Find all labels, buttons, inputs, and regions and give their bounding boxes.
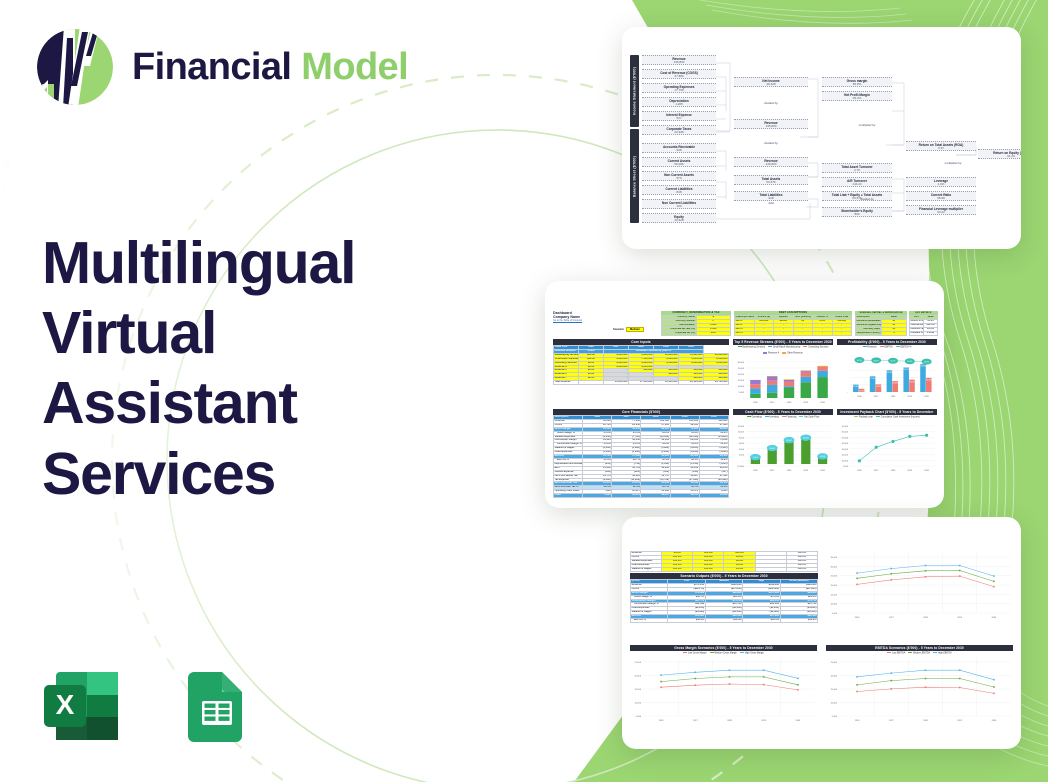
table-row: Payback Period (Years)1.0012: [910, 331, 938, 335]
wc-block-header: WORKING CAPITAL & DEPRECIATION: [855, 311, 907, 315]
dupont-node: Current Liabilities848: [642, 185, 716, 195]
legend-entry: Payback year: [854, 416, 873, 419]
bar-segment: [817, 366, 827, 367]
y-axis-tick: 25,000: [635, 662, 642, 664]
bar-segment: [817, 371, 827, 377]
series-marker: [925, 669, 927, 671]
table-cell: Return on Equity (ROE): [910, 319, 924, 323]
y-axis-tick: 20,000: [635, 675, 642, 677]
wc-assumptions-table: AssumptionValueAccounts Receivable Days1…: [855, 315, 907, 336]
bar-value-label: 120,100: [903, 369, 909, 371]
y-axis-tick: 10,000: [635, 702, 642, 704]
legend-label: Low Gross Margin: [688, 652, 707, 654]
bar-value-label: 136,800: [920, 365, 926, 367]
title-line-1: Multilingual: [42, 228, 472, 298]
dupont-node: Current Ratio58.98: [906, 191, 976, 201]
bar-value-label: 69,480: [926, 379, 931, 381]
series-marker: [891, 672, 893, 674]
legend-swatch: [710, 652, 714, 654]
bar: [784, 441, 793, 464]
legend-entry: Investing: [765, 416, 779, 419]
legend-entry: Low EBITDA: [887, 652, 905, 655]
y-axis-tick: 10,000: [738, 386, 745, 388]
dupont-node: Leverage1.9%: [906, 177, 976, 187]
chart-svg: 5,00010,00015,00020,00025,00020262027202…: [630, 656, 817, 722]
table-cell: Internal Rate of Return (IRR), %: [910, 323, 924, 327]
x-axis-tick: 2026: [659, 720, 664, 722]
series-marker: [856, 676, 858, 678]
table-cell: Corporate tax (%): [662, 331, 697, 335]
series-marker: [959, 669, 961, 671]
x-axis-tick: 2027: [770, 402, 775, 404]
dupont-node: Equity49,628: [642, 213, 716, 223]
operator-label: Add: [734, 201, 808, 205]
chart-svg: 1,00010,00020,00030,00040,00050,00060,00…: [837, 420, 937, 472]
chart-svg: -5,00010,00015,00020,00025,00030,0002026…: [733, 356, 833, 404]
bar-segment: [801, 382, 811, 398]
legend-swatch: [908, 652, 912, 654]
operator-label: divided by: [734, 141, 808, 145]
table-cell: Item 4: [735, 331, 755, 335]
series-marker: [993, 586, 995, 588]
scenario-label: Scenario: [613, 328, 624, 331]
x-axis-tick: 2027: [889, 720, 894, 722]
data-label: 39,947: [786, 439, 792, 441]
table-row: Item 4-----: [735, 331, 852, 335]
legend-entry: Revenue: [863, 346, 877, 349]
bar-segment: [750, 384, 760, 388]
bar-segment: [750, 380, 760, 384]
table-row: EBITDA %$42.2%$50.8%$59.6%$50.8%: [631, 619, 818, 623]
chart-svg: 5,00010,00015,00020,00025,00020262027202…: [826, 656, 1013, 722]
x-axis-tick: 2027: [693, 720, 698, 722]
y-axis-tick: 40,000: [842, 443, 849, 445]
table-cell: 95.0%: [724, 567, 755, 571]
title-line-3: Assistant: [42, 368, 472, 438]
node-value: 47,880: [642, 75, 716, 79]
supported-apps: X: [40, 660, 258, 752]
node-value: 800: [822, 213, 892, 217]
legend-label: High EBITDA: [938, 652, 952, 654]
table-cell: -: [774, 331, 794, 335]
series-marker: [891, 679, 893, 681]
x-axis-tick: 2030: [820, 402, 825, 404]
legend-swatch: [933, 652, 937, 654]
chart-legend: Bookkeeping ServicesSmall Batch Manufact…: [733, 345, 833, 356]
operator-label: multiplied by: [830, 123, 904, 127]
svg-text:X: X: [56, 689, 75, 720]
data-label: 50.1%: [890, 360, 895, 362]
core-financials-block: Core Financials ($'000) Description20262…: [553, 409, 729, 498]
table-cell: Operating Cash Flows: [554, 490, 583, 494]
x-axis-tick: 2028: [923, 617, 928, 619]
y-axis-tick: -: [743, 460, 744, 462]
legend-entry: Revenue 4: [763, 352, 779, 355]
legend-entry: Bookkeeping Services: [738, 346, 766, 349]
screenshot-card-scenario-analysis[interactable]: Revenue80.0%100.0%120.0%100.0%COGS105.0%…: [622, 517, 1021, 749]
x-axis-tick: 2028: [787, 470, 792, 472]
cash-flow-chart: Cash Flow ($'000) - 5 Years to December …: [733, 409, 833, 472]
series-marker: [925, 686, 927, 688]
legend-entry: EBITDA: [880, 346, 893, 349]
y-axis-tick: 10,000: [842, 460, 849, 462]
chart-title: Cash Flow ($'000) - 5 Years to December …: [733, 409, 833, 415]
key-metrics-block: KEY METRICS NPVValueReturn on Equity (RO…: [909, 311, 938, 336]
chart-plot: (2,000)-2,0004,0006,0008,00010,00012,000…: [733, 420, 833, 472]
scenario-outputs-table: ($'000)LowMediumHighActive (Medium)Reven…: [630, 579, 818, 623]
top-5-revenue-streams-chart: Top 5 Revenue Streams ($'000) - 5 Years …: [733, 339, 833, 404]
scenario-selector[interactable]: Scenario Medium: [613, 327, 644, 332]
x-axis-tick: 2030: [992, 720, 997, 722]
debt-assumptions-block: DEBT ASSUMPTIONS Loan/Input NameAmount (…: [734, 311, 852, 336]
brand-wordmark: Financial Model: [132, 46, 408, 89]
bar-segment: [784, 382, 794, 387]
bar: [768, 449, 777, 464]
series-marker: [856, 578, 858, 580]
table-cell: $59.6%: [743, 619, 780, 623]
bar-segment: [801, 373, 811, 377]
series-line: [857, 571, 994, 582]
table-row: Corporate tax (%)30%: [662, 331, 731, 335]
node-value: 136,800: [642, 61, 716, 65]
legend-swatch: [768, 346, 772, 348]
x-axis-tick: 2030: [992, 617, 997, 619]
dupont-node: Revenue136,800: [734, 157, 808, 167]
table-cell: Consulting Services: [554, 361, 579, 365]
y-axis-tick: 10,000: [831, 702, 838, 704]
node-value: 144.24: [822, 183, 892, 187]
table-cell: 105.0%: [662, 567, 693, 571]
currency-assumptions-block: CURRENCY, DENOMINATION & TAX Currency Na…: [661, 311, 731, 336]
legend-label: EBITDA: [884, 346, 892, 348]
dupont-node: Depreciation1,265: [642, 97, 716, 107]
table-cell: EBITDA %: [631, 619, 668, 623]
x-axis-tick: 2030: [924, 396, 929, 398]
series-marker: [797, 689, 799, 691]
legend-swatch: [876, 416, 880, 418]
currency-assumptions-table: Currency Name$Currency SubunitcDenominat…: [661, 315, 731, 336]
legend-label: Small Batch Manufacturing: [773, 346, 800, 348]
x-axis-tick: 2028: [891, 470, 896, 472]
x-axis-tick: 2029: [957, 720, 962, 722]
x-axis-tick: 2028: [891, 396, 896, 398]
legend-swatch: [854, 416, 858, 418]
series-marker: [695, 684, 697, 686]
x-axis-tick: 2030: [924, 470, 929, 472]
table-cell: 39,947: [641, 494, 670, 498]
y-axis-tick: 25,000: [831, 662, 838, 664]
node-value: 2.70: [822, 169, 892, 173]
dashboard-toc-link[interactable]: Go to the Table of Contents: [553, 319, 653, 322]
y-axis-tick: 35,000: [831, 557, 838, 559]
table-cell: Total Revenue: [554, 381, 579, 385]
dupont-node: Revenue136,800: [642, 55, 716, 65]
y-axis-tick: 20,000: [831, 675, 838, 677]
core-financials-table: Description20262027202820292030Revenue36…: [553, 415, 729, 498]
table-cell: -: [832, 331, 852, 335]
table-cell: 100.0%: [786, 567, 817, 571]
ebitda-scenarios-chart: EBITDA Scenarios ($'000) - 5 Years to De…: [826, 645, 1013, 722]
legend-label: Consulting Services: [808, 346, 828, 348]
series-marker: [763, 669, 765, 671]
table-cell: Payback Period (Years): [910, 331, 924, 335]
brand-logo: Financial Model: [34, 26, 408, 108]
core-inputs-block: Core Inputs Fixed Cost202620272028202920…: [553, 339, 729, 385]
x-axis-tick: 2026: [857, 470, 862, 472]
google-sheets-icon: [166, 660, 258, 752]
dupont-node: Shareholder's Equity800: [822, 207, 892, 217]
x-axis-tick: 2030: [796, 720, 801, 722]
y-axis-tick: 15,000: [831, 689, 838, 691]
series-marker: [959, 565, 961, 567]
table-cell: 5: [881, 331, 907, 335]
y-axis-tick: 5,000: [832, 613, 838, 615]
legend-entry: Other Revenue: [782, 352, 802, 355]
y-axis-tick: 60,000: [842, 431, 849, 433]
bar-segment: [784, 380, 794, 382]
series-marker: [660, 686, 662, 688]
legend-swatch: [747, 416, 751, 418]
series-marker: [729, 683, 731, 685]
series-marker: [763, 676, 765, 678]
node-value: 63.22: [906, 211, 976, 215]
y-axis-tick: 20,000: [738, 374, 745, 376]
table-cell: Revenue Streams: [554, 349, 579, 353]
dupont-node: Cost of Revenue (COGS)47,880: [642, 69, 716, 79]
node-value: 65.0%: [822, 83, 892, 87]
screenshot-card-dashboard[interactable]: Dashboard Company Name Go to the Table o…: [545, 281, 944, 508]
x-axis-tick: 2029: [907, 470, 912, 472]
y-axis-tick: (2,000): [737, 466, 744, 468]
data-label: 8,404: [753, 456, 758, 458]
x-axis-tick: 2026: [857, 396, 862, 398]
wc-assumptions-block: WORKING CAPITAL & DEPRECIATION Assumptio…: [855, 311, 907, 336]
chart-plot: 5,00010,00015,00020,00025,00020262027202…: [630, 656, 817, 722]
data-label: 48.7%: [874, 360, 879, 362]
legend-label: Net Cash Flow: [804, 416, 819, 418]
legend-swatch: [782, 352, 786, 354]
dupont-node: Interest Expense537: [642, 111, 716, 121]
table-cell: [579, 381, 604, 385]
bar-segment: [801, 371, 811, 373]
dupont-node: Accounts Receivable948: [642, 143, 716, 153]
table-row: Depreciation Period (Years)5: [856, 331, 907, 335]
series-marker: [891, 688, 893, 690]
node-value: 61.23: [978, 155, 1021, 159]
series-marker: [891, 573, 893, 575]
series-marker: [797, 684, 799, 686]
node-value: 136,800: [734, 163, 808, 167]
series-marker: [925, 677, 927, 679]
legend-label: Revenue 4: [768, 352, 779, 354]
data-label: 30,431: [769, 447, 775, 449]
legend-entry: Financing: [782, 416, 797, 419]
table-cell: Discount rate (Post): [910, 327, 924, 331]
y-axis-tick: 20,000: [831, 585, 838, 587]
y-axis-tick: 2,000: [739, 454, 745, 456]
microsoft-excel-icon: X: [40, 660, 132, 752]
legend-label: Low EBITDA: [892, 652, 905, 654]
bar-segment: [750, 394, 760, 398]
chart-svg: 5,00010,00015,00020,00025,00030,00035,00…: [826, 551, 1013, 619]
node-value: 49,628: [642, 219, 716, 223]
series-marker: [891, 579, 893, 581]
legend-swatch: [799, 416, 803, 418]
debt-assumptions-table: Loan/Input NameAmount ($)LayoutsTerm (Mo…: [734, 315, 852, 336]
series-marker: [856, 572, 858, 574]
legend-label: Medium Gross Margin: [714, 652, 737, 654]
legend-label: EBITDA %: [901, 346, 912, 348]
table-cell: Accounts Payable Days: [856, 323, 882, 327]
legend-entry: Medium Gross Margin: [710, 652, 737, 655]
dupont-node: Total Liabilities948: [734, 191, 808, 201]
table-cell: Accounts Receivable Days: [856, 319, 882, 323]
y-axis-tick: 5,000: [739, 392, 745, 394]
x-axis-tick: 2029: [907, 396, 912, 398]
series-marker: [763, 683, 765, 685]
series-marker: [993, 581, 995, 583]
legend-entry: EBITDA %: [896, 346, 912, 349]
bar-segment: [801, 370, 811, 371]
bar: [920, 364, 926, 392]
financial-model-circle-logo: [34, 26, 116, 108]
screenshot-card-dupont-analysis[interactable]: Income Statement ($'000) Balance Sheet (…: [622, 27, 1021, 249]
y-axis-tick: 25,000: [831, 576, 838, 578]
y-axis-tick: 5,000: [832, 716, 838, 718]
title-line-2: Virtual: [42, 298, 472, 368]
x-axis-tick: 2029: [761, 720, 766, 722]
bar-segment: [784, 379, 794, 380]
node-value: 58.98: [906, 197, 976, 201]
table-cell: 100.0%: [693, 567, 724, 571]
bar-segment: [801, 377, 811, 382]
y-axis-tick: 1,000: [843, 466, 849, 468]
legend-swatch: [738, 346, 742, 348]
series-marker: [660, 680, 662, 682]
legend-swatch: [763, 352, 767, 354]
table-cell: 1.0012: [924, 331, 938, 335]
series-line: [857, 687, 994, 693]
x-axis-tick: 2027: [770, 470, 775, 472]
node-value: 1,265: [642, 103, 716, 107]
x-axis-tick: 2030: [820, 470, 825, 472]
legend-entry: Net Cash Flow: [799, 416, 819, 419]
table-cell: $50.8%: [780, 619, 817, 623]
table-cell: 20,100,000: [679, 381, 704, 385]
dupont-node: Net Profit Margin35.4%: [822, 91, 892, 101]
node-value: 0.97: [906, 147, 976, 151]
operator-label: divided by: [734, 101, 808, 105]
bar-value-label: 77,000: [870, 378, 875, 380]
operator-label: divided by: [830, 197, 904, 201]
table-cell: -: [754, 331, 774, 335]
investment-payback-chart: Investment Payback Chart ($'000) - 5 Yea…: [837, 409, 937, 472]
chart-title: Profitability ($'000) - 5 Years to Decem…: [837, 339, 937, 345]
bar: [801, 438, 810, 463]
chart-title: Top 5 Revenue Streams ($'000) - 5 Years …: [733, 339, 833, 345]
dupont-node: Operating Expenses17,758: [642, 83, 716, 93]
scenario-outputs-block: Scenario Outputs ($'000) - 5 Years to De…: [630, 573, 818, 623]
node-value: 537: [642, 117, 716, 121]
series-marker: [959, 575, 961, 577]
dashboard-heading: Dashboard Company Name Go to the Table o…: [553, 311, 653, 322]
legend-entry: Low Gross Margin: [683, 652, 706, 655]
bar-segment: [784, 388, 794, 398]
series-marker: [959, 677, 961, 679]
brand-name-part1: Financial: [132, 46, 291, 88]
x-axis-tick: 2026: [753, 470, 758, 472]
bar-value-label: 15,705: [859, 390, 864, 392]
dupont-node: A/R Turnover144.24: [822, 177, 892, 187]
legend-entry: Operating: [747, 416, 762, 419]
bar-value-label: 106,300: [886, 372, 892, 374]
y-axis-tick: 25,000: [738, 368, 745, 370]
series-marker: [660, 674, 662, 676]
legend-label: Payback year: [859, 416, 873, 418]
chart-plot: 5,00010,00015,00020,00025,00030,00035,00…: [826, 551, 1013, 619]
series-marker: [993, 686, 995, 688]
y-axis-tick: 12,000: [738, 426, 745, 428]
legend-entry: High EBITDA: [933, 652, 951, 655]
legend-entry: Medium EBITDA: [908, 652, 930, 655]
y-axis-tick: 8,000: [739, 437, 745, 439]
node-value: 17,758: [642, 89, 716, 93]
gross-margin-scenarios-chart: Gross Margin Scenarios ($'000) - 5 Years…: [630, 645, 817, 722]
legend-entry: Small Batch Manufacturing: [768, 346, 800, 349]
chart-svg: (2,000)-2,0004,0006,0008,00010,00012,000…: [733, 420, 833, 472]
y-axis-tick: 50,000: [842, 437, 849, 439]
table-cell: Salaries & Wages: [631, 567, 662, 571]
series-marker: [959, 570, 961, 572]
legend-entry: Consulting Services: [803, 346, 828, 349]
node-value: 50,576: [734, 181, 808, 185]
dupont-node: Corporate Taxes20,928: [642, 125, 716, 135]
legend-entry: High Gross Margin: [740, 652, 764, 655]
legend-label: High Gross Margin: [745, 652, 764, 654]
node-value: 848: [642, 191, 716, 195]
table-cell: $42.2%: [668, 619, 705, 623]
bar-segment: [750, 388, 760, 393]
scenario-value[interactable]: Medium: [626, 327, 644, 332]
series-marker: [856, 584, 858, 586]
dupont-analysis-tree: Income Statement ($'000) Balance Sheet (…: [630, 51, 1013, 231]
x-axis-tick: 2029: [957, 617, 962, 619]
legend-label: Other Revenue: [787, 352, 803, 354]
dupont-node: Total Asset Turnover2.70: [822, 163, 892, 173]
y-axis-tick: 20,000: [842, 454, 849, 456]
x-axis-tick: 2029: [803, 470, 808, 472]
table-cell: Net Profit After Tax %: [554, 486, 583, 490]
x-axis-tick: 2028: [727, 720, 732, 722]
data-label: 50.5%: [907, 361, 912, 363]
bar-segment: [767, 393, 777, 398]
page-title: Multilingual Virtual Assistant Services: [42, 228, 472, 509]
node-value: 1.9%: [906, 183, 976, 187]
node-value: 100: [642, 205, 716, 209]
table-cell: 48,104: [670, 494, 699, 498]
y-axis-tick: 10,000: [831, 604, 838, 606]
series-marker: [925, 576, 927, 578]
title-line-4: Services: [42, 439, 472, 509]
series-marker: [993, 575, 995, 577]
table-cell: 50,006: [699, 494, 728, 498]
y-axis-tick: 10,000: [738, 431, 745, 433]
bar-segment: [767, 377, 777, 381]
legend-entry: Cumulative Cash Investment (Income): [876, 416, 920, 419]
node-value: 50,006: [642, 163, 716, 167]
dupont-node: Net Income48,428: [734, 77, 808, 87]
dupont-node: Total Assets50,576: [734, 175, 808, 185]
